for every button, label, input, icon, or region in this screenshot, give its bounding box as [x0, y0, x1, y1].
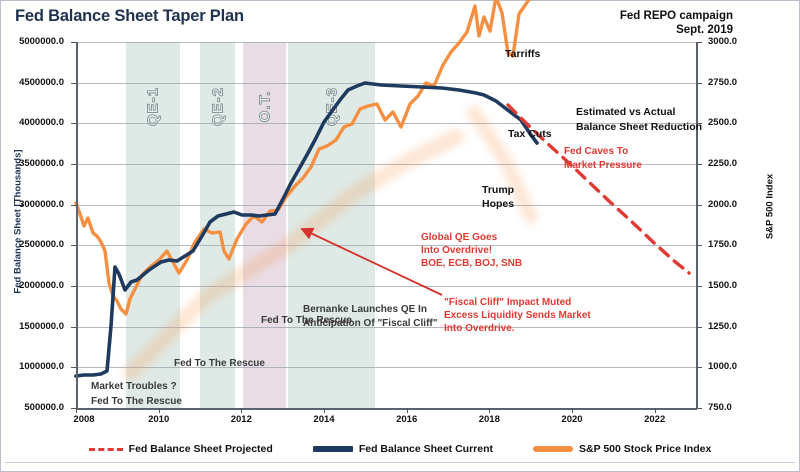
- y-tick-mark-right: [697, 245, 702, 246]
- annotation-bernanke-1: Bernanke Launches QE In: [303, 303, 427, 316]
- legend-item-sp500[interactable]: S&P 500 Stock Price Index: [533, 443, 711, 455]
- x-tick-label: 2020: [561, 414, 582, 425]
- plot-area: QE-1 QE-2 O.T. QE-3: [76, 42, 696, 408]
- legend-label-fed-current: Fed Balance Sheet Current: [359, 443, 493, 455]
- y-tick-label-left: 5000000.0: [0, 36, 64, 47]
- x-tick-mark: [241, 408, 242, 413]
- y-tick-label-left: 1500000.0: [0, 321, 64, 332]
- annotation-trump-hopes-2: Hopes: [482, 198, 514, 211]
- y-axis-right-spine: [696, 42, 698, 408]
- legend-swatch-orange-icon: [533, 446, 573, 452]
- y-tick-label-left: 500000.0: [0, 402, 64, 413]
- legend-swatch-dashed-icon: [89, 448, 123, 451]
- y-tick-mark-right: [697, 164, 702, 165]
- annotation-fed-caves-2: Market Pressure: [564, 159, 642, 172]
- x-tick-label: 2014: [313, 414, 334, 425]
- annotation-fiscal-cliff-2: Excess Liquidity Sends Market: [444, 309, 591, 322]
- sp500-halo: [131, 137, 456, 372]
- x-tick-mark: [655, 408, 656, 413]
- y-tick-mark-left: [71, 245, 76, 246]
- y-tick-mark-right: [697, 367, 702, 368]
- y-tick-label-right: 1250.0: [708, 321, 788, 332]
- x-tick-label: 2010: [148, 414, 169, 425]
- x-tick-label: 2008: [73, 414, 94, 425]
- y-tick-mark-right: [697, 205, 702, 206]
- y-tick-mark-right: [697, 83, 702, 84]
- annotation-fed-rescue-2: Fed To The Rescue: [174, 357, 265, 370]
- legend-item-fed-current[interactable]: Fed Balance Sheet Current: [313, 443, 493, 455]
- annotation-fiscal-cliff-1: "Fiscal Cliff" Impact Muted: [444, 296, 571, 309]
- y-tick-mark-left: [71, 286, 76, 287]
- annotation-bernanke-2: Anticipation Of "Fiscal Cliff": [303, 317, 438, 330]
- y-tick-label-left: 3000000.0: [0, 199, 64, 210]
- legend-item-fed-projected[interactable]: Fed Balance Sheet Projected: [89, 443, 273, 455]
- y-tick-mark-right: [697, 327, 702, 328]
- annotation-fiscal-cliff-3: Into Overdrive.: [444, 322, 515, 335]
- y-tick-label-left: 2000000.0: [0, 280, 64, 291]
- annotation-global-qe-1: Global QE Goes: [421, 231, 497, 244]
- annotation-fed-rescue-1: Fed To The Rescue: [91, 395, 182, 408]
- y-tick-label-left: 4000000.0: [0, 117, 64, 128]
- legend-label-sp500: S&P 500 Stock Price Index: [579, 443, 711, 455]
- y-tick-mark-left: [71, 164, 76, 165]
- y-tick-label-right: 1750.0: [708, 239, 788, 250]
- y-tick-mark-right: [697, 42, 702, 43]
- annotation-estimated-2: Balance Sheet Reduction: [576, 121, 702, 134]
- chart-legend: Fed Balance Sheet Projected Fed Balance …: [1, 438, 799, 460]
- x-tick-mark: [159, 408, 160, 413]
- x-tick-label: 2018: [479, 414, 500, 425]
- x-tick-label: 2012: [231, 414, 252, 425]
- y-tick-label-right: 1000.0: [708, 361, 788, 372]
- x-tick-label: 2016: [396, 414, 417, 425]
- annotation-global-qe-3: BOE, ECB, BOJ, SNB: [421, 257, 522, 270]
- annotation-tax-cuts: Tax Cuts: [508, 128, 552, 141]
- y-tick-mark-left: [71, 367, 76, 368]
- y-tick-label-right: 2250.0: [708, 158, 788, 169]
- y-tick-label-right: 2000.0: [708, 199, 788, 210]
- repo-note-line2: Sept. 2019: [620, 23, 733, 37]
- y-axis-left-spine: [76, 42, 78, 408]
- x-tick-mark: [407, 408, 408, 413]
- y-tick-label-right: 1500.0: [708, 280, 788, 291]
- y-tick-mark-right: [697, 408, 702, 409]
- annotation-trump-hopes-1: Trump: [482, 184, 514, 197]
- repo-note-line1: Fed REPO campaign: [620, 9, 733, 23]
- x-axis-spine: [76, 408, 697, 410]
- legend-swatch-navy-icon: [313, 446, 353, 452]
- annotation-global-qe-2: Into Overdrive!: [421, 244, 492, 257]
- y-tick-label-right: 2750.0: [708, 77, 788, 88]
- x-tick-mark: [489, 408, 490, 413]
- y-tick-label-right: 750.0: [708, 402, 788, 413]
- annotation-estimated-1: Estimated vs Actual: [576, 106, 675, 119]
- x-tick-label: 2022: [644, 414, 665, 425]
- annotation-tarriffs: Tarriffs: [505, 48, 540, 61]
- y-tick-mark-left: [71, 42, 76, 43]
- series-layer: [76, 42, 696, 408]
- x-tick-mark: [324, 408, 325, 413]
- legend-label-fed-projected: Fed Balance Sheet Projected: [129, 443, 273, 455]
- y-tick-mark-right: [697, 286, 702, 287]
- y-tick-label-left: 4500000.0: [0, 77, 64, 88]
- x-tick-mark: [572, 408, 573, 413]
- y-tick-label-right: 2500.0: [708, 117, 788, 128]
- y-tick-label-left: 1000000.0: [0, 361, 64, 372]
- annotation-market-troubles: Market Troubles ?: [91, 380, 177, 393]
- y-tick-label-right: 3000.0: [708, 36, 788, 47]
- legend-separator: [5, 462, 795, 463]
- annotation-fed-caves-1: Fed Caves To: [564, 145, 628, 158]
- chart-title: Fed Balance Sheet Taper Plan: [15, 7, 244, 26]
- y-tick-label-left: 2500000.0: [0, 239, 64, 250]
- y-tick-mark-left: [71, 327, 76, 328]
- y-tick-mark-left: [71, 205, 76, 206]
- y-tick-mark-left: [71, 123, 76, 124]
- chart-container: Fed Balance Sheet Taper Plan Fed REPO ca…: [0, 0, 800, 472]
- y-tick-label-left: 3500000.0: [0, 158, 64, 169]
- repo-campaign-note: Fed REPO campaign Sept. 2019: [620, 9, 733, 37]
- y-axis-left-title: Fed Balance Sheet [Thousands]: [13, 147, 24, 297]
- y-tick-mark-left: [71, 83, 76, 84]
- x-tick-mark: [76, 408, 77, 413]
